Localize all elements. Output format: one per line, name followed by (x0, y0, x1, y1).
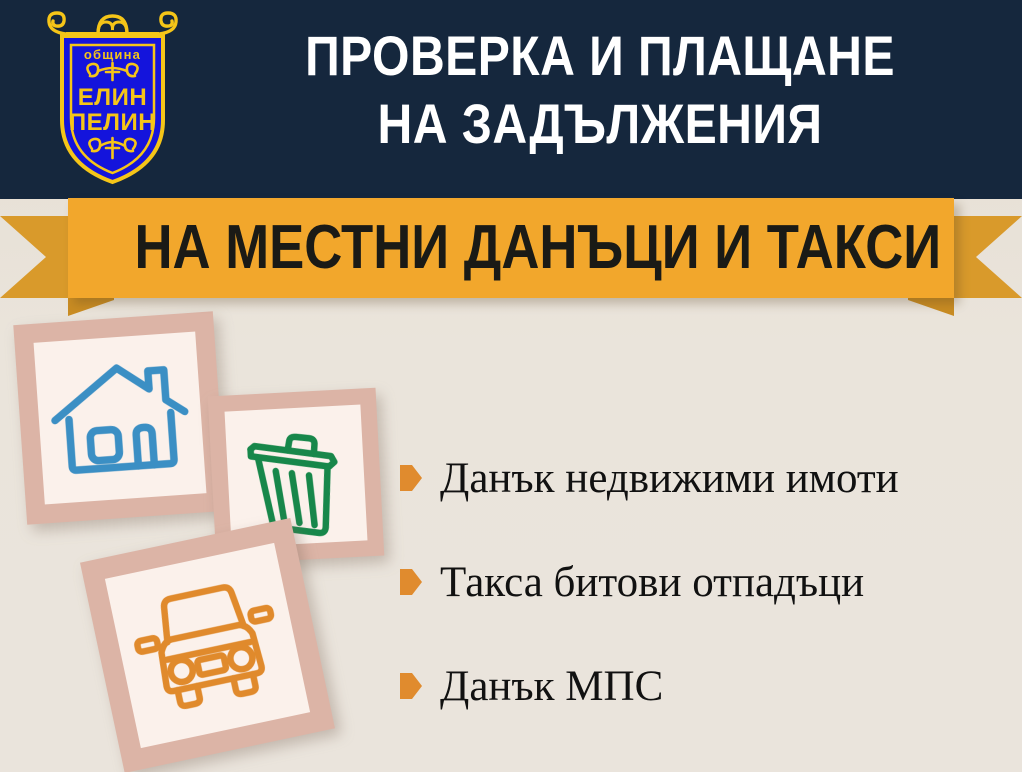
list-item-label: Данък МПС (440, 665, 663, 708)
subtitle-ribbon: НА МЕСТНИ ДАНЪЦИ И ТАКСИ (0, 198, 1022, 316)
ribbon-fold-left (68, 298, 114, 316)
svg-text:ПЕЛИН: ПЕЛИН (69, 109, 156, 136)
stamp-paper (225, 405, 368, 548)
municipality-logo: община ЕЛИН ПЕЛИН (40, 8, 185, 190)
poster-canvas: община ЕЛИН ПЕЛИН ПРОВЕРКА И П (0, 0, 1022, 772)
list-item[interactable]: Данък недвижими имоти (400, 426, 1000, 530)
stamp-paper (105, 543, 310, 748)
page-title-line-1: ПРОВЕРКА И ПЛАЩАНЕ (243, 22, 957, 90)
list-item-label: Такса битови отпадъци (440, 561, 864, 604)
bullet-arrow-icon (400, 465, 422, 491)
page-title: ПРОВЕРКА И ПЛАЩАНЕ НА ЗАДЪЛЖЕНИЯ (243, 22, 957, 158)
tax-type-list: Данък недвижими имоти Такса битови отпад… (400, 426, 1000, 738)
page-title-line-2: НА ЗАДЪЛЖЕНИЯ (243, 90, 957, 158)
ribbon-fold-right (908, 298, 954, 316)
trash-bin-icon (225, 405, 368, 548)
ribbon-label: НА МЕСТНИ ДАНЪЦИ И ТАКСИ (134, 198, 887, 298)
stamp-paper (34, 332, 207, 505)
bullet-arrow-icon (400, 673, 422, 699)
bullet-arrow-icon (400, 569, 422, 595)
ribbon-band: НА МЕСТНИ ДАНЪЦИ И ТАКСИ (68, 198, 954, 298)
svg-text:община: община (84, 47, 141, 62)
svg-text:ЕЛИН: ЕЛИН (78, 84, 147, 111)
stamp-vehicle (80, 518, 335, 772)
list-item[interactable]: Данък МПС (400, 634, 1000, 738)
stamp-real-estate (13, 311, 226, 524)
list-item[interactable]: Такса битови отпадъци (400, 530, 1000, 634)
house-icon (34, 332, 207, 505)
car-icon (105, 543, 310, 748)
list-item-label: Данък недвижими имоти (440, 457, 899, 500)
